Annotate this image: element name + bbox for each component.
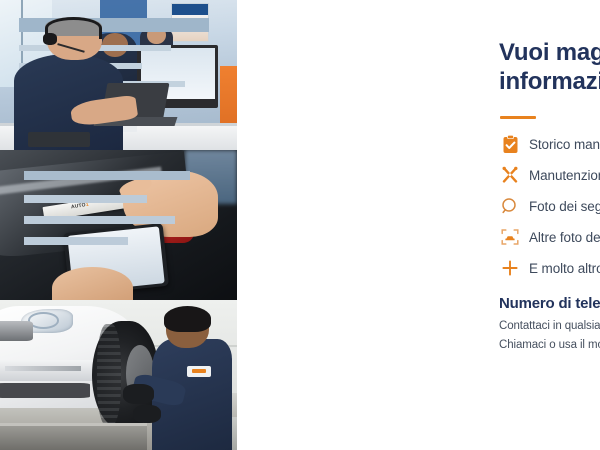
- phone-number[interactable]: Numero di telefono: +390238583852: [499, 295, 600, 312]
- plus-icon: [499, 257, 521, 279]
- mechanic-wheel-photo: [0, 300, 237, 450]
- magnifier-icon: [499, 195, 521, 217]
- crossed-tools-icon: [499, 164, 521, 186]
- content-panel: Vuoi maggiori informazioni su ? Saremo f…: [237, 0, 600, 450]
- feature-label: E molto altro ancora: [529, 261, 600, 276]
- contact-subtext-line-1: Contattaci in qualsiasi momento per ulte…: [499, 320, 600, 332]
- feature-item-manutenzioni: Manutenzioni effettuate: [499, 161, 600, 189]
- clipboard-check-icon: [499, 133, 521, 155]
- call-center-agent-photo: [0, 0, 237, 150]
- photo-column: AUTO1: [0, 0, 237, 450]
- feature-item-storico: Storico manutentivo: [499, 130, 600, 158]
- feature-label: Manutenzioni effettuate: [529, 168, 600, 183]
- headline-line-2: informazioni su ?: [499, 67, 600, 96]
- car-scan-icon: [499, 226, 521, 248]
- feature-list: Storico manutentivo Manutenzioni effettu…: [499, 130, 600, 285]
- feature-label: Storico manutentivo: [529, 137, 600, 152]
- feature-item-altro: E molto altro ancora: [499, 254, 600, 282]
- headline-line-1: Vuoi maggiori: [499, 39, 600, 66]
- feature-item-foto-usura: Foto dei segni di usura: [499, 192, 600, 220]
- vehicle-inspection-photo: AUTO1: [0, 150, 237, 300]
- title-divider: [500, 116, 536, 119]
- feature-item-altre-foto: Altre foto del veicolo: [499, 223, 600, 251]
- feature-label: Foto dei segni di usura: [529, 199, 600, 214]
- contact-subtext-line-2: Chiamaci o usa il modulo di contatto.: [499, 339, 600, 351]
- feature-label: Altre foto del veicolo: [529, 230, 600, 245]
- page-title: Vuoi maggiori informazioni su ?: [499, 38, 600, 97]
- promo-card: AUTO1: [0, 0, 600, 450]
